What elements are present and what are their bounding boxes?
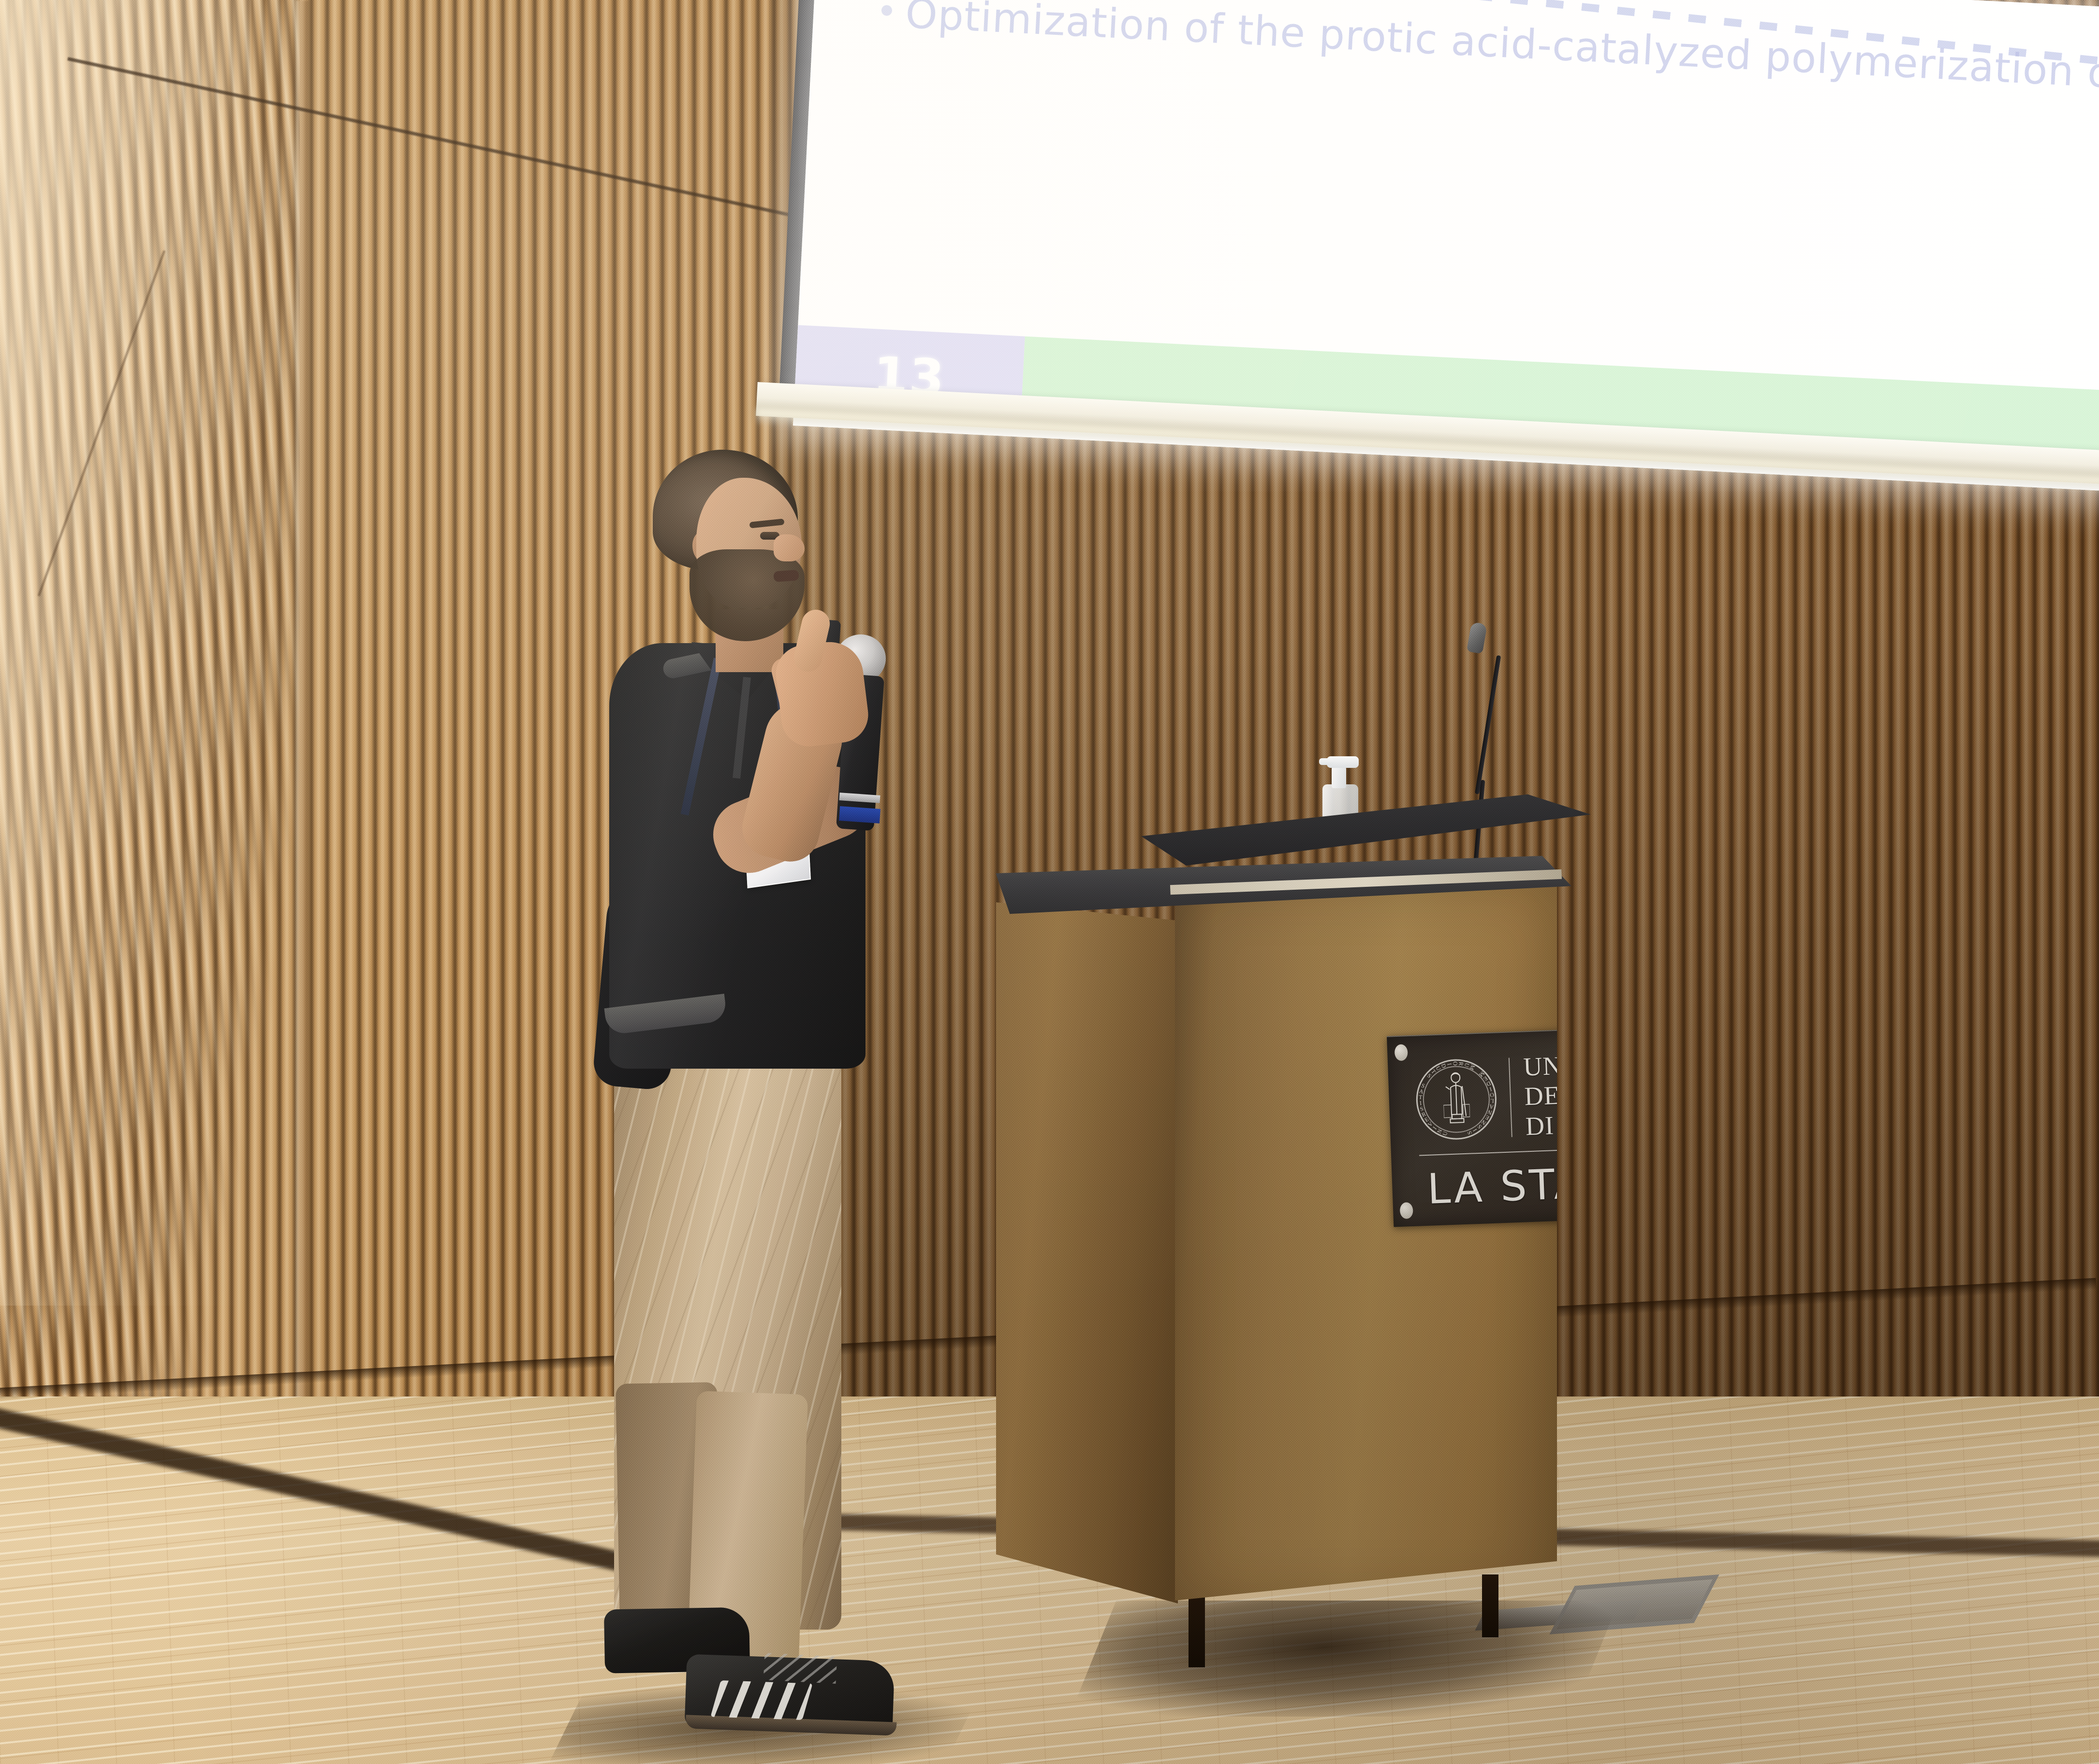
slide-bullet-icon (881, 5, 892, 16)
speaker-beard (690, 549, 805, 641)
speaker-nose (774, 534, 805, 561)
shoe-three-stripes-icon (710, 1680, 812, 1720)
lectern-front-panel: UNIVERSITAS STUDIORUM MEDIOLANENSIS UNIV… (1175, 885, 1557, 1601)
lectern-side-panel (996, 902, 1178, 1603)
lectern: UNIVERSITAS STUDIORUM MEDIOLANENSIS UNIV… (996, 856, 1557, 1644)
shoe-laces (763, 1653, 837, 1684)
hand-sanitizer-neck (1332, 767, 1346, 788)
speaker-mouth (773, 570, 799, 582)
microphone-blue-band (839, 806, 881, 823)
wall-panel-edge (296, 0, 308, 1547)
seal-motto-ring: UNIVERSITAS STUDIORUM MEDIOLANENSIS (1413, 1056, 1500, 1143)
lectern-leg-left (1189, 1590, 1205, 1667)
presentation-photograph-scene: Optimization of the protic acid-catalyze… (0, 0, 2099, 1764)
lectern-floor-shadow (1070, 1601, 1619, 1717)
plaque-screw-top-left (1394, 1044, 1408, 1061)
speaker-figure (571, 450, 1006, 1746)
lectern-leg-right (1482, 1574, 1498, 1637)
plaque-vertical-divider (1509, 1058, 1512, 1137)
curved-wall-panel (0, 0, 300, 1586)
hand-sanitizer-pump-icon[interactable] (1327, 756, 1359, 768)
seal-motto-glyph: S (1466, 1130, 1474, 1135)
slide-title-text: Optimization of the protic acid-catalyze… (904, 0, 2099, 102)
university-seal-icon: UNIVERSITAS STUDIORUM MEDIOLANENSIS (1413, 1056, 1500, 1143)
